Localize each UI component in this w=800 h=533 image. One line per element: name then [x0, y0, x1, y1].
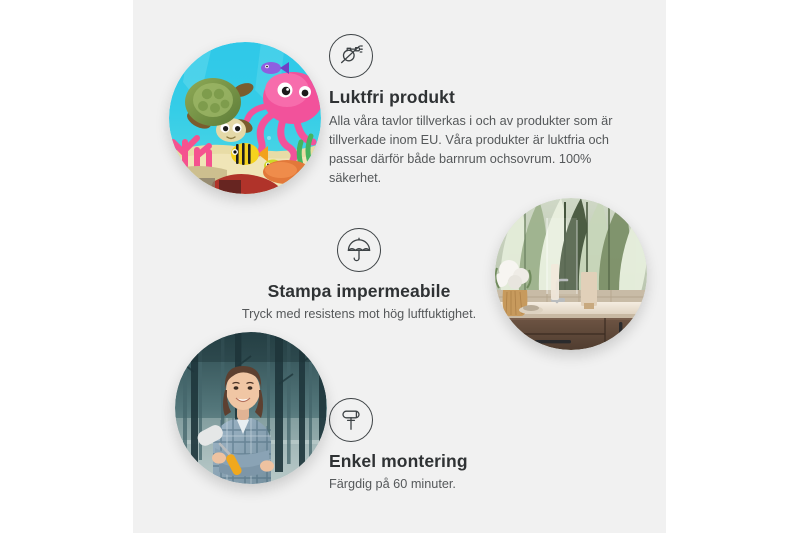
umbrella-icon [337, 228, 381, 272]
feature-body: Alla våra tavlor tillverkas i och av pro… [329, 112, 621, 188]
photo-sea-life-mural [169, 42, 321, 194]
content-panel: Luktfri produkt Alla våra tavlor tillver… [133, 0, 666, 533]
feature-body: Färgdig på 60 minuter. [329, 475, 629, 494]
feature-waterproof: Stampa impermeabile Tryck med resistens … [189, 228, 529, 324]
feature-odor-free: Luktfri produkt Alla våra tavlor tillver… [329, 34, 629, 188]
feature-title: Stampa impermeabile [189, 281, 529, 302]
feature-title: Enkel montering [329, 451, 629, 472]
feature-title: Luktfri produkt [329, 87, 629, 108]
promo-graphic: Luktfri produkt Alla våra tavlor tillver… [0, 0, 800, 533]
feature-easy-mounting: Enkel montering Färgdig på 60 minuter. [329, 398, 629, 494]
paint-roller-icon [329, 398, 373, 442]
photo-painter-forest-mural [175, 332, 327, 484]
no-fragrance-spray-bottle-icon [329, 34, 373, 78]
feature-body: Tryck med resistens mot hög luftfuktighe… [189, 305, 529, 324]
